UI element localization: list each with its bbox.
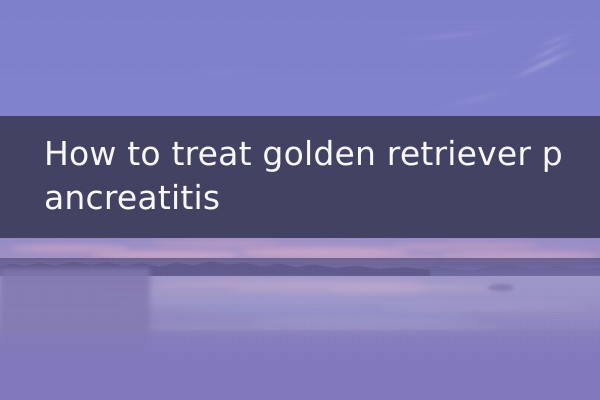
small-islet (488, 284, 514, 291)
page-title: How to treat golden retriever pancreatit… (44, 132, 582, 220)
title-overlay-band: How to treat golden retriever pancreatit… (0, 116, 600, 238)
foreground-flat (0, 330, 600, 400)
hero-image: How to treat golden retriever pancreatit… (0, 0, 600, 400)
